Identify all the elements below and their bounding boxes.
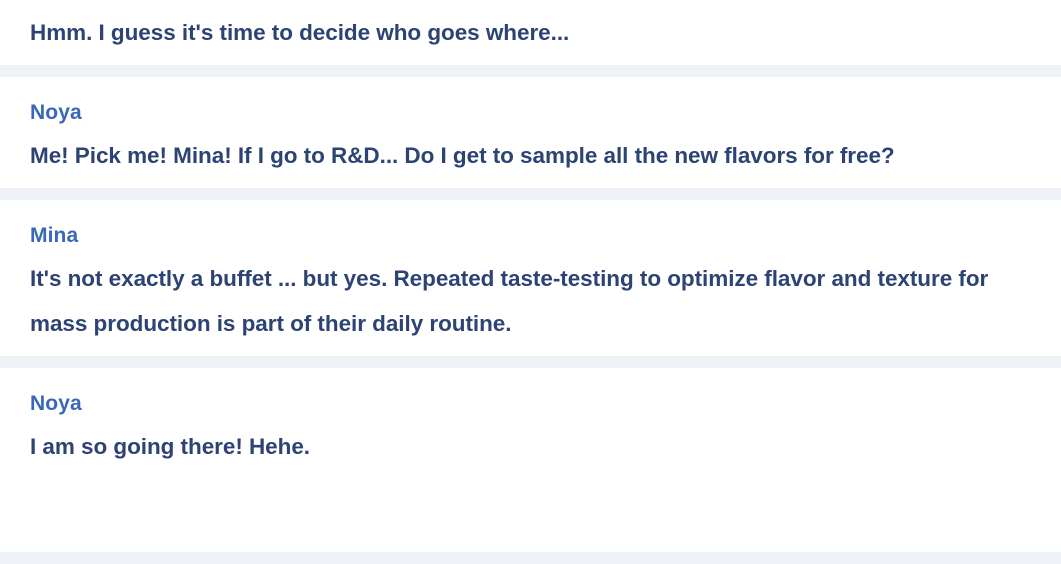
message-separator (0, 65, 1061, 77)
message-block: Noya I am so going there! Hehe. (0, 368, 1061, 469)
message-separator (0, 188, 1061, 200)
spacer (30, 200, 1031, 216)
dialogue-transcript: Hmm. I guess it's time to decide who goe… (0, 0, 1061, 564)
spacer (0, 469, 1061, 552)
spacer (0, 178, 1061, 188)
message-speaker-name: Noya (30, 93, 1031, 133)
spacer (30, 77, 1031, 93)
message-block: Hmm. I guess it's time to decide who goe… (0, 0, 1061, 55)
message-text: I am so going there! Hehe. (30, 424, 1015, 469)
message-separator (0, 356, 1061, 368)
message-text: Me! Pick me! Mina! If I go to R&D... Do … (30, 133, 1015, 178)
spacer (0, 55, 1061, 65)
message-block: Noya Me! Pick me! Mina! If I go to R&D..… (0, 77, 1061, 178)
message-speaker-name: Noya (30, 384, 1031, 424)
message-speaker-name: Mina (30, 216, 1031, 256)
spacer (0, 346, 1061, 356)
message-text: It's not exactly a buffet ... but yes. R… (30, 256, 1015, 346)
spacer (30, 368, 1031, 384)
message-block: Mina It's not exactly a buffet ... but y… (0, 200, 1061, 346)
spacer (30, 0, 1031, 10)
message-separator (0, 552, 1061, 564)
message-text: Hmm. I guess it's time to decide who goe… (30, 10, 1015, 55)
